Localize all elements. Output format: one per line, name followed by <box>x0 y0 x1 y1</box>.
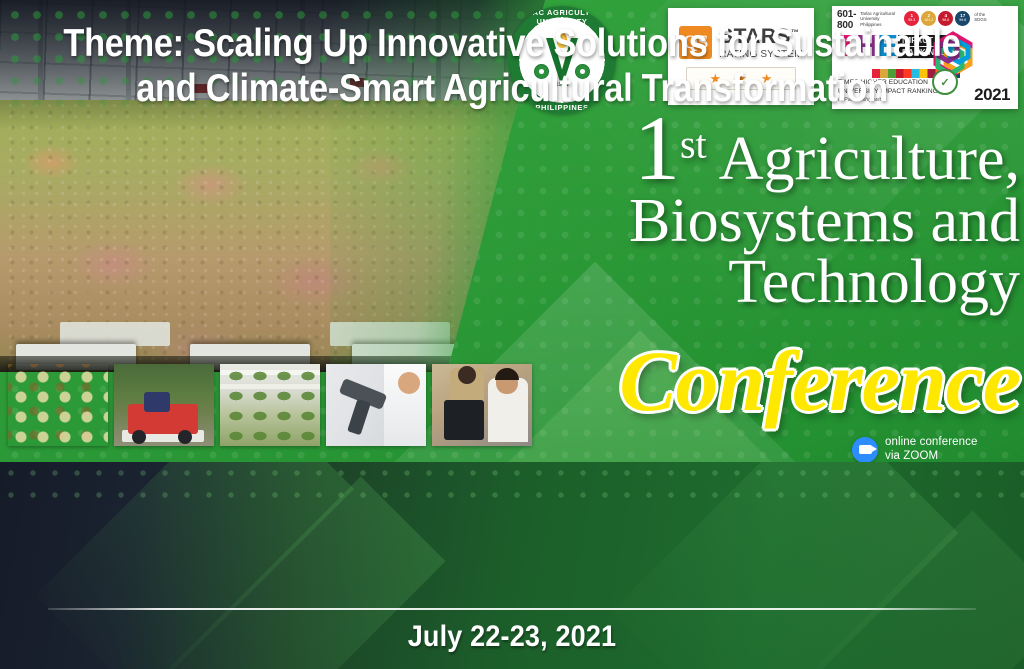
title-line-2: Biosystems and <box>520 192 1020 252</box>
title-line-3: Technology <box>520 253 1020 313</box>
lab-plants <box>220 364 320 446</box>
chicks-texture <box>8 364 108 446</box>
online-conference-badge: online conference via ZOOM <box>852 436 978 464</box>
conference-theme: Theme: Scaling Up Innovative Solutions f… <box>61 22 962 112</box>
the-rank-line1: 601- <box>837 10 856 21</box>
tractor-wheel <box>132 430 146 444</box>
poultry-chicks-photo <box>8 364 108 446</box>
camera-glyph <box>859 445 872 454</box>
conference-poster: TARLAC AGRICULTURAL UNIVERSITY 1943 PHIL… <box>0 0 1024 669</box>
microscope-laboratory-photo <box>326 364 426 446</box>
theme-line-1: Theme: Scaling Up Innovative Solutions f… <box>61 22 962 67</box>
zoom-badge-text: online conference via ZOOM <box>885 436 978 464</box>
students-computer-photo <box>432 364 532 446</box>
student-one-head <box>458 366 476 384</box>
computer-monitor <box>444 400 484 440</box>
greenhouse-plant-lab-photo <box>220 364 320 446</box>
the-year: 2021 <box>974 85 1010 105</box>
the-sdg-extra: of the SDGS <box>974 10 986 23</box>
title-ordinal-suffix: st <box>680 121 707 166</box>
student-two-hair <box>495 368 519 380</box>
divider-line <box>48 608 976 610</box>
zoom-badge-line1: online conference <box>885 436 978 450</box>
microscope-tube <box>347 399 371 436</box>
conference-script-word: Conference <box>560 338 1020 424</box>
photo-thumbnail-strip <box>8 364 532 446</box>
tractor-operator <box>144 392 170 412</box>
farm-tractor-harvester-photo <box>114 364 214 446</box>
title-line-1: 1st Agriculture, <box>520 112 1020 190</box>
tractor-wheel <box>178 430 192 444</box>
conference-title: 1st Agriculture, Biosystems and Technolo… <box>520 112 1020 313</box>
researcher-head <box>398 372 420 394</box>
title-word-agriculture: Agriculture, <box>719 125 1020 193</box>
the-sdg-extra-line2: SDGS <box>974 17 986 22</box>
title-ordinal-number: 1 <box>634 97 680 199</box>
conference-date: July 22-23, 2021 <box>51 620 973 654</box>
hydroponic-tray <box>60 322 170 346</box>
theme-line-2: and Climate-Smart Agricultural Transform… <box>61 67 962 112</box>
zoom-video-camera-icon <box>852 437 878 463</box>
